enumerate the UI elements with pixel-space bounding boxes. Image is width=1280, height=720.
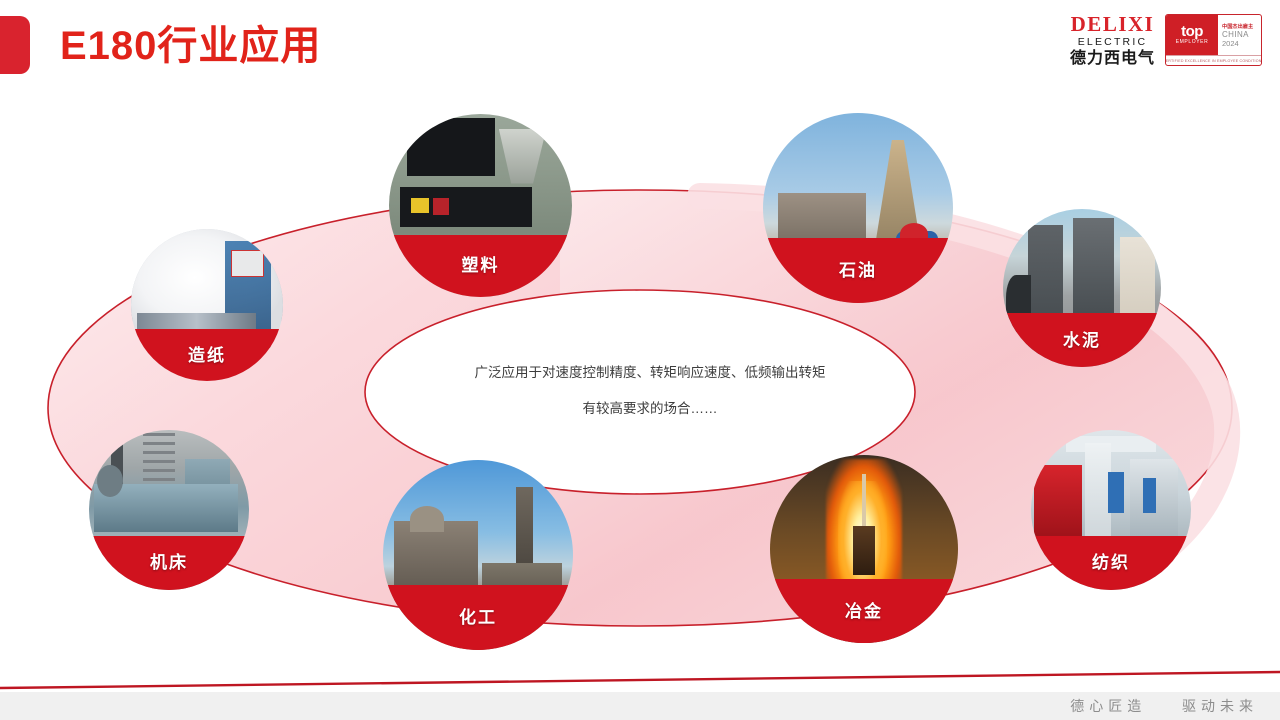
- top-employer-top-text: top: [1181, 25, 1203, 38]
- industry-node-plastics[interactable]: 塑料: [389, 114, 572, 297]
- delixi-logo: DELIXI ELECTRIC 德力西电气: [1070, 14, 1155, 67]
- industry-node-textile[interactable]: 纺织: [1031, 430, 1191, 590]
- industry-node-papermaking[interactable]: 造纸: [131, 229, 283, 381]
- industry-node-label: 冶金: [770, 579, 958, 643]
- title-accent-bar: [0, 16, 30, 74]
- industry-node-label: 水泥: [1003, 313, 1161, 367]
- industry-node-label: 化工: [383, 585, 573, 650]
- top-employer-caption: CERTIFIED EXCELLENCE IN EMPLOYEE CONDITI…: [1166, 55, 1261, 65]
- top-employer-details: 中国杰出雇主 CHINA 2024: [1218, 15, 1261, 55]
- industry-node-label: 机床: [89, 536, 249, 590]
- industry-node-petroleum[interactable]: 石油: [763, 113, 953, 303]
- industry-node-metallurgy[interactable]: 冶金: [770, 455, 958, 643]
- footer-slogan-left: 德心匠造: [1070, 698, 1146, 714]
- delixi-subtitle: ELECTRIC: [1078, 37, 1148, 48]
- slide-canvas: E180行业应用 DELIXI ELECTRIC 德力西电气 top EMPLO…: [0, 0, 1280, 720]
- brand-logo-group: DELIXI ELECTRIC 德力西电气 top EMPLOYER 中国杰出雇…: [1070, 14, 1262, 67]
- industry-node-label: 造纸: [131, 329, 283, 381]
- footer-divider: [0, 666, 1280, 692]
- page-title: E180行业应用: [60, 18, 321, 74]
- top-employer-mark: top EMPLOYER: [1166, 15, 1218, 55]
- center-description-line-2: 有较高要求的场合……: [400, 391, 900, 427]
- delixi-chinese-name: 德力西电气: [1070, 51, 1155, 67]
- top-employer-country: CHINA: [1222, 30, 1249, 39]
- industry-node-label: 石油: [763, 238, 953, 303]
- top-employer-cn-label: 中国杰出雇主: [1222, 23, 1253, 30]
- center-description: 广泛应用于对速度控制精度、转矩响应速度、低频输出转矩 有较高要求的场合……: [400, 355, 900, 427]
- footer-slogan-right: 驱动未来: [1182, 698, 1258, 714]
- center-description-line-1: 广泛应用于对速度控制精度、转矩响应速度、低频输出转矩: [400, 355, 900, 391]
- industry-node-label: 纺织: [1031, 536, 1191, 590]
- top-employer-badge: top EMPLOYER 中国杰出雇主 CHINA 2024 CERTIFIED…: [1165, 14, 1262, 66]
- industry-node-cement[interactable]: 水泥: [1003, 209, 1161, 367]
- delixi-wordmark: DELIXI: [1071, 14, 1155, 35]
- industry-node-chemical[interactable]: 化工: [383, 460, 573, 650]
- industry-node-label: 塑料: [389, 235, 572, 297]
- top-employer-employer-text: EMPLOYER: [1176, 39, 1209, 45]
- industry-node-machine-tool[interactable]: 机床: [89, 430, 249, 590]
- top-employer-year: 2024: [1222, 39, 1239, 48]
- footer-slogan: 德心匠造 驱动未来: [1070, 696, 1258, 716]
